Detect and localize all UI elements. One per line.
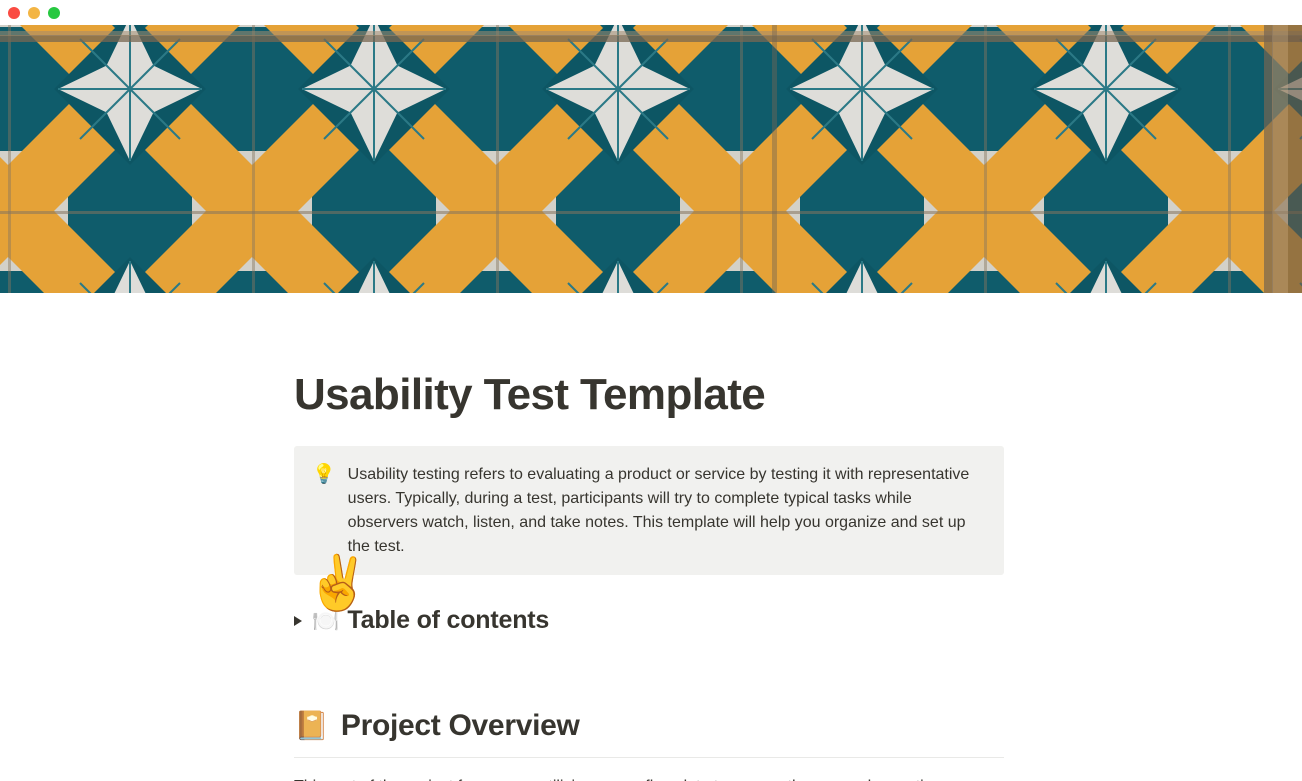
section-project-overview: 📔 Project Overview This part of the proj… <box>294 709 1004 781</box>
section-paragraph[interactable]: This part of the project focuses on util… <box>294 774 1004 781</box>
victory-hand-emoji[interactable]: ✌️ <box>305 557 371 610</box>
page-content-column: Usability Test Template 💡 Usability test… <box>294 293 1004 781</box>
toggle-table-of-contents[interactable]: 🍽️ Table of contents <box>294 606 1004 635</box>
callout-text: Usability testing refers to evaluating a… <box>348 463 986 559</box>
window-title-bar <box>0 0 1302 25</box>
section-title: Project Overview <box>341 709 580 743</box>
chevron-right-icon[interactable] <box>294 616 302 626</box>
notebook-with-decorative-cover-emoji: 📔 <box>294 712 329 740</box>
section-heading[interactable]: 📔 Project Overview <box>294 709 1004 743</box>
fork-and-knife-with-plate-emoji: 🍽️ <box>312 610 339 632</box>
window-minimize-button[interactable] <box>28 7 40 19</box>
lightbulb-emoji: 💡 <box>312 463 336 487</box>
window-close-button[interactable] <box>8 7 20 19</box>
page-body: ✌️ Usability Test Template 💡 Usability t… <box>0 293 1302 781</box>
page-cover-image[interactable] <box>0 25 1302 293</box>
toggle-heading-label: Table of contents <box>347 606 549 635</box>
page-title[interactable]: Usability Test Template <box>294 293 1004 419</box>
window-maximize-button[interactable] <box>48 7 60 19</box>
section-divider <box>294 757 1004 758</box>
callout-block[interactable]: 💡 Usability testing refers to evaluating… <box>294 446 1004 575</box>
